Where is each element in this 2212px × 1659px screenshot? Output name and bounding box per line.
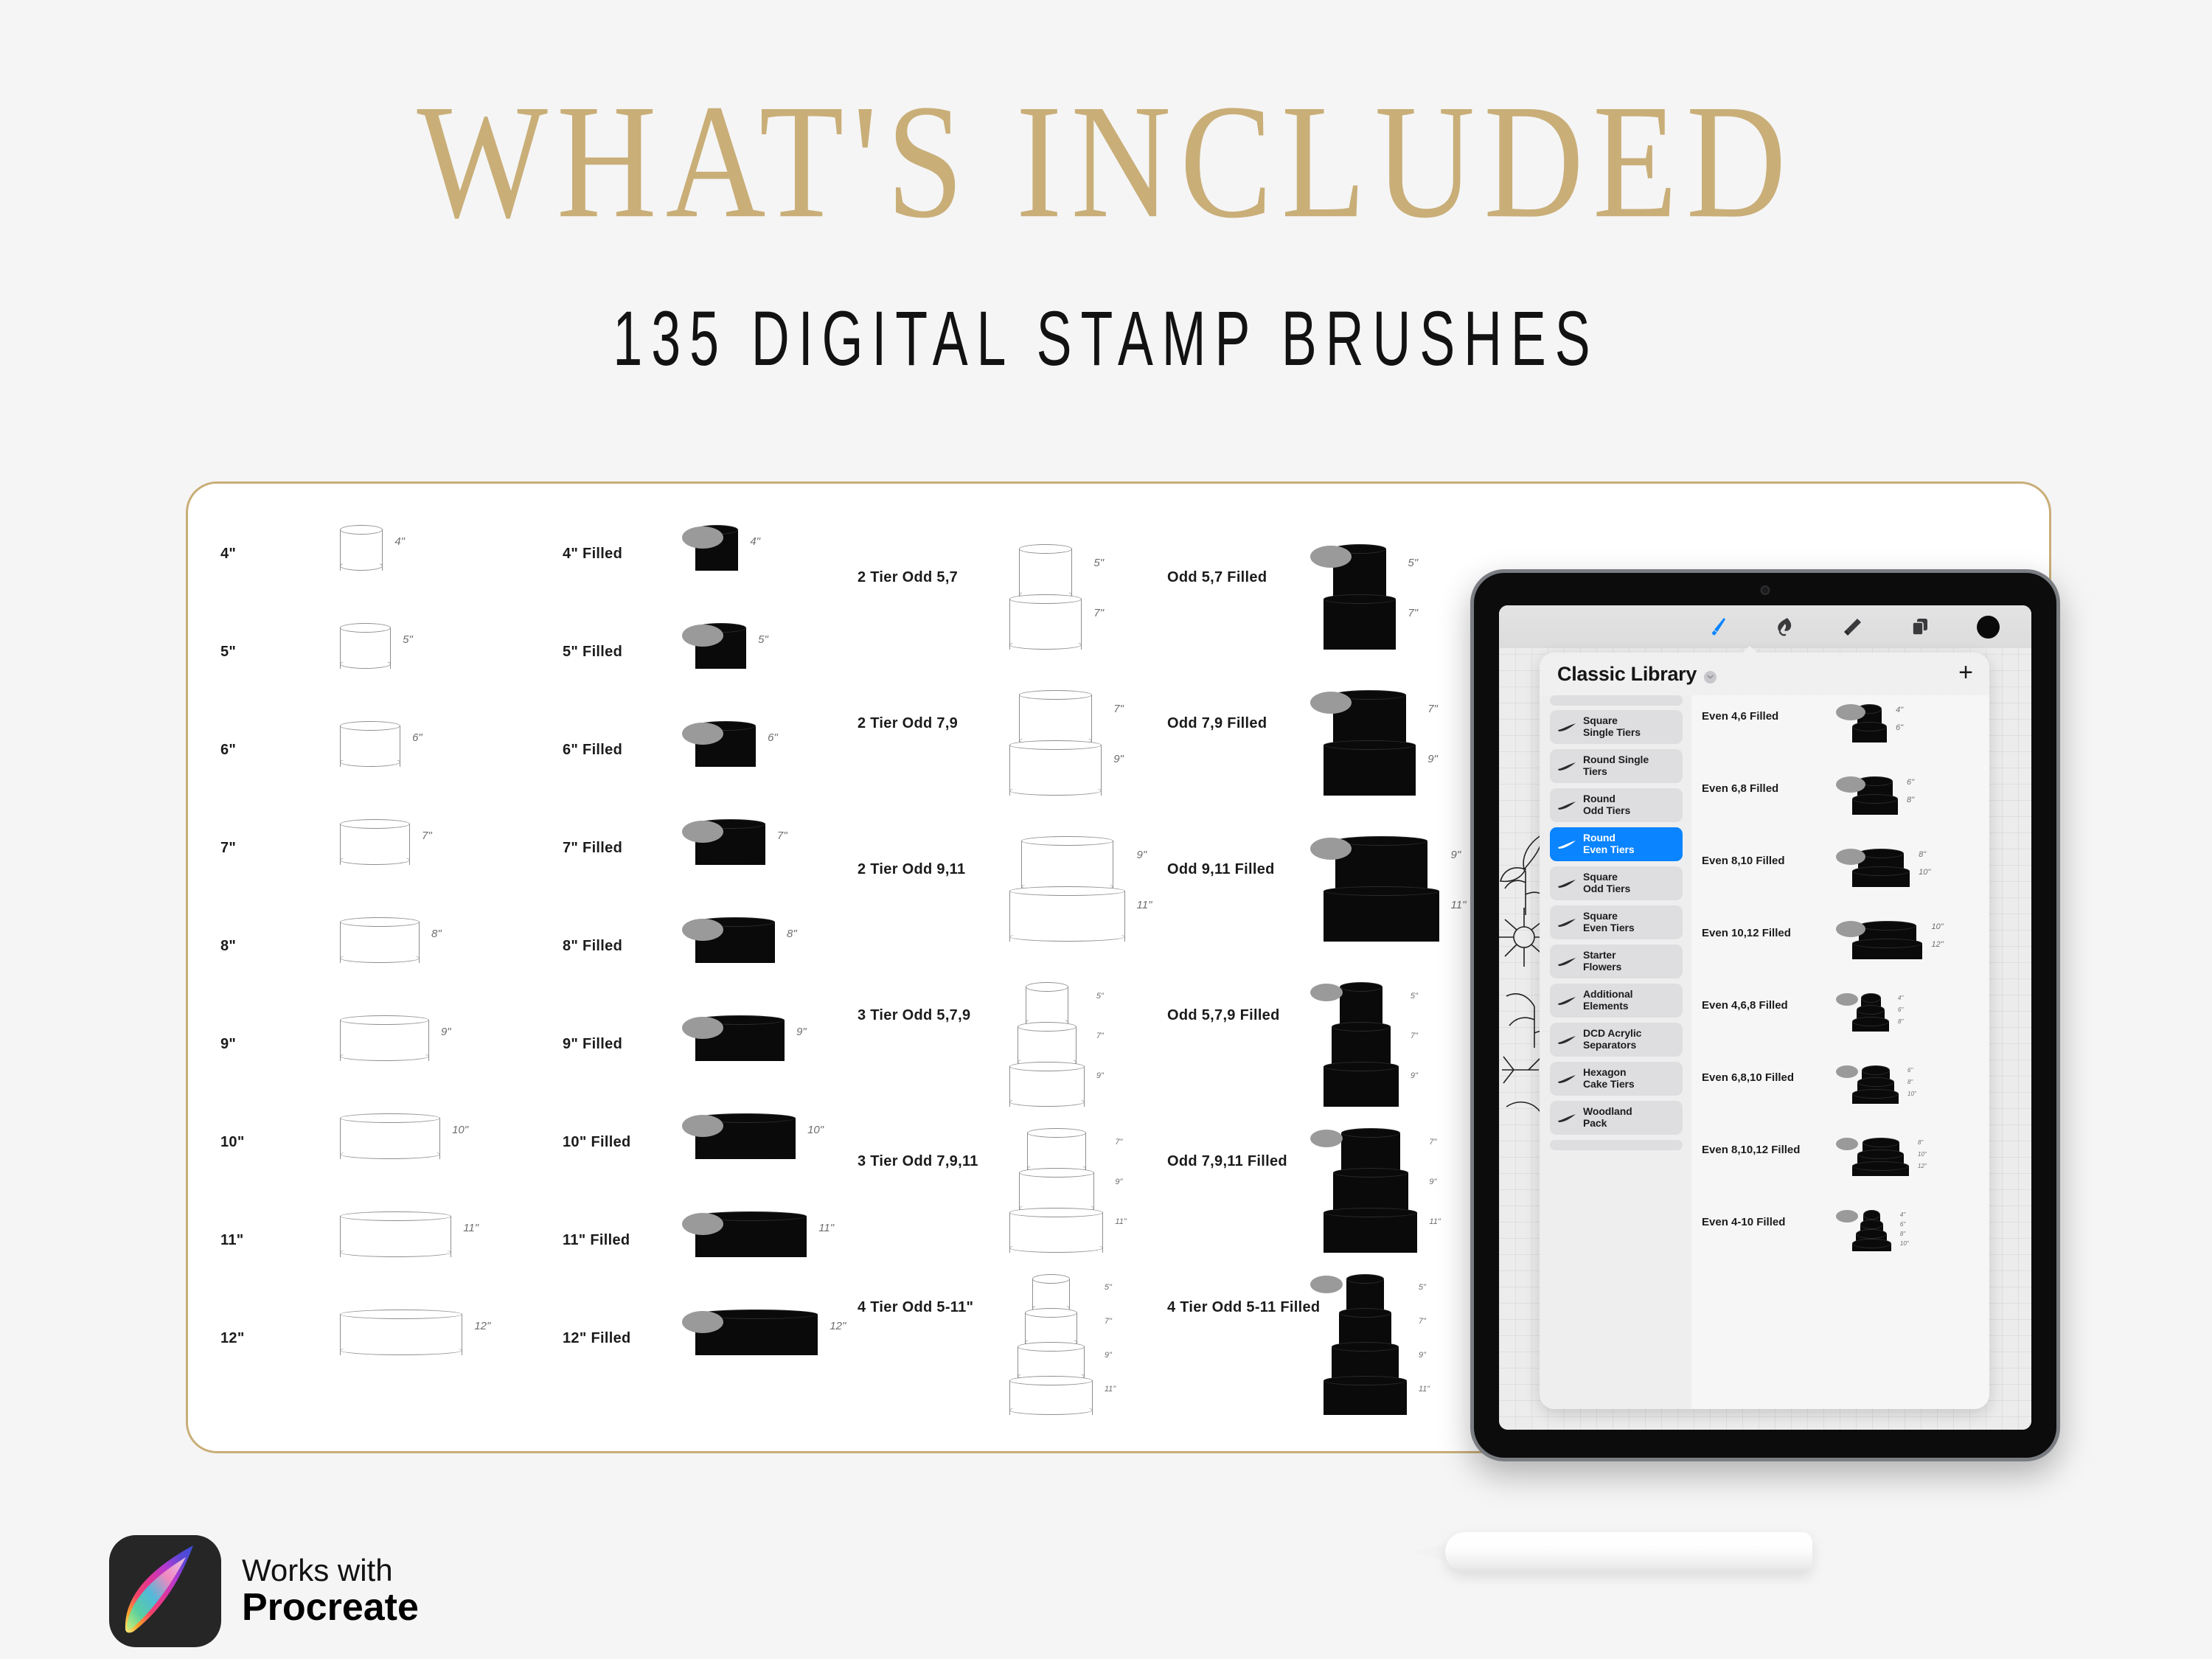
tier-size-tag: 5" <box>1408 557 1418 569</box>
brush-preview-row: 10"10" <box>209 1100 555 1198</box>
brush-item-list[interactable]: Even 4,6 Filled4"6"Even 6,8 Filled6"8"Ev… <box>1691 695 1989 1409</box>
brush-preview-row: 11"11" <box>209 1198 555 1296</box>
page-title: WHAT'S INCLUDED <box>0 80 2212 243</box>
cake-tier-outline <box>340 525 383 571</box>
brush-name-label: 10" <box>220 1134 245 1151</box>
brush-name-label: 10" Filled <box>563 1134 631 1151</box>
tier-size-tag: 10" <box>807 1124 824 1136</box>
badge-line-1: Works with <box>242 1554 419 1587</box>
tier-size-tag: 9" <box>1105 1351 1112 1360</box>
cake-tier-filled <box>1324 1062 1399 1107</box>
brush-label: Even 4,6,8 Filled <box>1702 999 1788 1012</box>
tier-size-tag: 11" <box>1451 899 1467 911</box>
brush-preview-row: 5"5" <box>209 610 555 708</box>
tier-size-tag: 4" <box>394 535 405 548</box>
cake-tier-filled <box>1852 794 1898 815</box>
smudge-mark <box>1310 1130 1343 1147</box>
cake-tier-outline <box>1026 982 1068 1027</box>
brush-label: Even 6,8,10 Filled <box>1702 1071 1794 1084</box>
tier-size-tag: 6" <box>412 731 422 744</box>
brush-set-label: RoundEven Tiers <box>1583 832 1635 855</box>
brush-name-label: Odd 7,9,11 Filled <box>1167 1153 1287 1170</box>
brush-preview-row: 7" Filled7" <box>555 806 858 904</box>
tier-size-tag: 11" <box>1419 1385 1430 1394</box>
brush-name-label: 4 Tier Odd 5-11 Filled <box>1167 1299 1320 1316</box>
chevron-down-icon[interactable] <box>1704 671 1717 684</box>
brush-label: Even 4,6 Filled <box>1702 710 1778 723</box>
cake-tier-outline <box>340 623 391 669</box>
tier-size-tag: 11" <box>1137 899 1152 911</box>
list-edge-bottom <box>1550 1140 1683 1150</box>
tier-size-tag: 4" <box>750 535 760 548</box>
brush-list-item[interactable]: Even 4-10 Filled4"6"8"10" <box>1691 1207 1989 1279</box>
front-camera-icon <box>1761 585 1770 595</box>
tier-size-tag: 12" <box>474 1320 490 1332</box>
tier-size-tag: 10" <box>1900 1240 1909 1247</box>
tier-size-tag: 6" <box>768 731 778 744</box>
tier-size-tag: 8" <box>787 928 797 940</box>
ipad-screen[interactable]: Classic Library + SquareSingle TiersRoun… <box>1499 605 2031 1430</box>
tier-size-tag: 9" <box>1113 753 1124 765</box>
tier-size-tag: 5" <box>1096 992 1104 1001</box>
cake-tier-outline <box>340 1211 451 1257</box>
brush-set-label: DCD AcrylicSeparators <box>1583 1028 1641 1051</box>
tier-size-tag: 7" <box>1411 1032 1418 1040</box>
cake-tier-filled <box>695 917 775 963</box>
tier-size-tag: 6" <box>1898 1006 1903 1013</box>
brush-preview-row: 3 Tier Odd 5,7,95"7"9" <box>858 972 1167 1118</box>
brush-preview-row: 6"6" <box>209 708 555 806</box>
cake-tier-filled <box>1335 836 1427 891</box>
tier-size-tag: 7" <box>1429 1138 1436 1147</box>
brush-set-item-hexagon-cake-tiers[interactable]: HexagonCake Tiers <box>1550 1062 1683 1096</box>
brush-name-label: 5" Filled <box>563 644 622 661</box>
cake-tier-filled <box>1852 1161 1909 1176</box>
tier-size-tag: 5" <box>758 633 768 646</box>
cake-tier-filled <box>1852 939 1922 959</box>
layers-icon[interactable] <box>1907 614 1933 639</box>
brush-list-item[interactable]: Even 6,8,10 Filled6"8"10" <box>1691 1062 1989 1135</box>
cake-tier-outline <box>1021 836 1113 891</box>
cake-tier-filled <box>1852 1017 1889 1032</box>
cake-tier-filled <box>1852 722 1887 742</box>
brush-stroke-icon <box>1557 995 1576 1006</box>
tier-size-tag: 8" <box>1907 796 1914 804</box>
cake-tier-filled <box>1333 1168 1408 1213</box>
cake-tier-filled <box>1333 690 1405 745</box>
page-subtitle: 135 DIGITAL STAMP BRUSHES <box>88 293 2124 384</box>
brush-list-item[interactable]: Even 4,6 Filled4"6" <box>1691 701 1989 773</box>
smudge-mark <box>1310 1276 1343 1293</box>
pencil-barrel <box>1445 1532 1812 1572</box>
brush-list-item[interactable]: Even 8,10 Filled8"10" <box>1691 846 1989 918</box>
brush-name-label: Odd 9,11 Filled <box>1167 861 1275 878</box>
brush-set-list[interactable]: SquareSingle TiersRound SingleTiersRound… <box>1540 695 1691 1409</box>
cake-tier-outline <box>340 1015 429 1061</box>
cake-tier-filled <box>1324 594 1396 650</box>
panel-header: Classic Library + <box>1540 653 1989 695</box>
brush-preview-row: Odd 5,7 Filled5"7" <box>1167 534 1477 680</box>
ipad-device: Classic Library + SquareSingle TiersRoun… <box>1470 569 2060 1461</box>
brush-name-label: 4" <box>220 546 236 563</box>
tier-size-tag: 10" <box>1918 1151 1927 1158</box>
apple-pencil <box>1414 1532 1812 1572</box>
badge-line-2: Procreate <box>242 1587 419 1628</box>
tier-size-tag: 9" <box>1451 849 1461 861</box>
eraser-icon[interactable] <box>1840 614 1865 639</box>
cake-tier-filled <box>1340 982 1382 1027</box>
cake-tier-filled <box>1852 866 1910 887</box>
brush-name-label: 6" <box>220 742 236 759</box>
cake-tier-outline <box>1009 1376 1093 1415</box>
brush-library-panel[interactable]: Classic Library + SquareSingle TiersRoun… <box>1540 653 1989 1409</box>
brush-list-item[interactable]: Even 6,8 Filled6"8" <box>1691 773 1989 846</box>
smudge-mark <box>1836 1138 1858 1150</box>
brush-set-item-round-odd-tiers[interactable]: RoundOdd Tiers <box>1550 788 1683 822</box>
tier-size-tag: 9" <box>1137 849 1147 861</box>
brush-preview-row: 8"8" <box>209 904 555 1002</box>
tier-size-tag: 4" <box>1896 706 1903 714</box>
brush-name-label: 6" Filled <box>563 742 622 759</box>
tier-size-tag: 8" <box>1898 1018 1903 1025</box>
smudge-mark <box>1836 993 1858 1006</box>
brush-name-label: 12" <box>220 1330 245 1347</box>
brush-preview-row: 2 Tier Odd 7,97"9" <box>858 680 1167 826</box>
tier-size-tag: 9" <box>1411 1071 1418 1080</box>
tier-size-tag: 4" <box>1900 1211 1905 1218</box>
brush-preview-row: 4"4" <box>209 512 555 610</box>
tier-size-tag: 7" <box>777 829 787 842</box>
brush-preview-row: Odd 7,9 Filled7"9" <box>1167 680 1477 826</box>
tier-size-tag: 7" <box>1105 1317 1112 1326</box>
tier-size-tag: 7" <box>1419 1317 1426 1326</box>
tier-size-tag: 10" <box>1919 868 1930 877</box>
tier-size-tag: 5" <box>1411 992 1418 1001</box>
brush-stroke-icon <box>1557 878 1576 888</box>
tier-size-tag: 12" <box>1931 940 1943 949</box>
tier-size-tag: 8" <box>1907 1079 1913 1085</box>
poster-canvas: WHAT'S INCLUDED 135 DIGITAL STAMP BRUSHE… <box>0 0 2212 1659</box>
cake-tier-filled <box>1324 740 1416 796</box>
panel-caret <box>1740 646 1759 655</box>
cake-tier-outline <box>340 1113 440 1159</box>
tier-size-tag: 9" <box>796 1026 807 1038</box>
tier-size-tag: 11" <box>818 1222 834 1234</box>
brush-preview-row: 4 Tier Odd 5-11 Filled5"7"9"11" <box>1167 1264 1477 1410</box>
cake-tier-outline <box>340 721 400 767</box>
brush-preview-row: 2 Tier Odd 5,75"7" <box>858 534 1167 680</box>
brush-set-item-round-single-tiers[interactable]: Round SingleTiers <box>1550 749 1683 783</box>
brush-name-label: 7" <box>220 840 236 857</box>
brush-set-label: RoundOdd Tiers <box>1583 793 1630 816</box>
cake-tier-filled <box>695 1310 818 1355</box>
tier-size-tag: 7" <box>422 829 432 842</box>
tier-size-tag: 5" <box>1105 1283 1112 1292</box>
cake-tier-outline <box>1009 740 1102 796</box>
brush-stroke-icon <box>1557 1113 1576 1123</box>
cake-tier-filled <box>1341 1128 1400 1173</box>
brush-stroke-icon <box>1557 839 1576 849</box>
brush-preview-row: 4" Filled4" <box>555 512 858 610</box>
cake-tier-filled <box>1324 886 1439 942</box>
panel-title: Classic Library <box>1557 663 1697 686</box>
tier-size-tag: 9" <box>1429 1178 1436 1186</box>
cake-tier-filled <box>695 1113 796 1159</box>
cake-tier-outline <box>1019 544 1072 599</box>
brush-set-item-square-single-tiers[interactable]: SquareSingle Tiers <box>1550 710 1683 744</box>
color-swatch[interactable] <box>1975 614 2000 639</box>
brush-preview-row: 4 Tier Odd 5-11"5"7"9"11" <box>858 1264 1167 1410</box>
brush-stroke-icon <box>1557 1034 1576 1045</box>
tier-size-tag: 8" <box>1900 1231 1905 1237</box>
tier-size-tag: 12" <box>1918 1163 1927 1169</box>
brush-set-item-square-even-tiers[interactable]: SquareEven Tiers <box>1550 905 1683 939</box>
paintbrush-icon[interactable] <box>1704 614 1729 639</box>
tier-size-tag: 9" <box>441 1026 451 1038</box>
brush-set-label: SquareOdd Tiers <box>1583 872 1630 894</box>
brush-name-label: Odd 5,7 Filled <box>1167 569 1267 586</box>
cake-tier-outline <box>1027 1128 1086 1173</box>
brush-preview-row: 9" Filled9" <box>555 1002 858 1100</box>
brush-name-label: 2 Tier Odd 5,7 <box>858 569 958 586</box>
brush-name-label: 12" Filled <box>563 1330 631 1347</box>
tier-size-tag: 6" <box>1907 1067 1913 1074</box>
brush-label: Even 8,10 Filled <box>1702 855 1785 867</box>
brush-name-label: 3 Tier Odd 5,7,9 <box>858 1007 970 1024</box>
tier-size-tag: 5" <box>1093 557 1104 569</box>
tier-size-tag: 5" <box>403 633 413 646</box>
cake-tier-filled <box>695 819 765 865</box>
brush-preview-row: 2 Tier Odd 9,119"11" <box>858 826 1167 972</box>
brush-preview-row: 5" Filled5" <box>555 610 858 708</box>
tier-size-tag: 8" <box>431 928 442 940</box>
brush-stroke-icon <box>1557 800 1576 810</box>
brush-name-label: Odd 7,9 Filled <box>1167 715 1267 732</box>
brush-set-item-woodland-pack[interactable]: WoodlandPack <box>1550 1101 1683 1135</box>
smudge-mark <box>1310 984 1343 1001</box>
tier-size-tag: 9" <box>1419 1351 1426 1360</box>
brush-list-item[interactable]: Even 8,10,12 Filled8"10"12" <box>1691 1135 1989 1207</box>
cake-tier-outline <box>1019 690 1091 745</box>
brush-name-label: 11" Filled <box>563 1232 630 1249</box>
cake-tier-filled <box>695 1211 807 1257</box>
cake-tier-outline <box>1009 886 1125 942</box>
brush-preview-row: Odd 7,9,11 Filled7"9"11" <box>1167 1118 1477 1264</box>
cake-tier-filled <box>1852 1239 1891 1251</box>
brush-set-item-starter-flowers[interactable]: StarterFlowers <box>1550 945 1683 978</box>
tier-size-tag: 12" <box>829 1320 846 1332</box>
tier-size-tag: 7" <box>1427 703 1438 715</box>
smudge-mark <box>1836 1065 1858 1078</box>
tier-size-tag: 8" <box>1919 850 1926 859</box>
tier-size-tag: 10" <box>452 1124 468 1136</box>
cake-tier-filled <box>1852 1089 1899 1104</box>
cake-tier-filled <box>695 525 738 571</box>
list-edge-top <box>1550 695 1683 706</box>
brush-name-label: 9" <box>220 1036 236 1053</box>
cake-tier-filled <box>695 1015 785 1061</box>
tier-size-tag: 9" <box>1115 1178 1122 1186</box>
brush-name-label: 11" <box>220 1232 244 1249</box>
brush-preview-row: 10" Filled10" <box>555 1100 858 1198</box>
brush-name-label: 5" <box>220 644 236 661</box>
tier-size-tag: 10" <box>1931 922 1943 931</box>
brush-list-item[interactable]: Even 4,6,8 Filled4"6"8" <box>1691 990 1989 1062</box>
tier-size-tag: 6" <box>1900 1221 1905 1228</box>
brush-set-item-square-odd-tiers[interactable]: SquareOdd Tiers <box>1550 866 1683 900</box>
cake-tier-outline <box>1019 1168 1094 1213</box>
brush-set-label: StarterFlowers <box>1583 950 1621 973</box>
tier-size-tag: 6" <box>1907 778 1914 787</box>
tier-size-tag: 5" <box>1419 1283 1426 1292</box>
brush-preview-row: 9"9" <box>209 1002 555 1100</box>
smudge-mark <box>1836 1210 1858 1222</box>
cake-tier-filled <box>695 623 746 669</box>
tier-size-tag: 7" <box>1113 703 1124 715</box>
cake-tier-outline <box>340 819 410 865</box>
brush-preview-row: 8" Filled8" <box>555 904 858 1002</box>
brush-set-label: HexagonCake Tiers <box>1583 1067 1635 1090</box>
tier-size-tag: 7" <box>1093 607 1104 619</box>
tier-size-tag: 11" <box>1429 1217 1440 1226</box>
brush-name-label: 4 Tier Odd 5-11" <box>858 1299 973 1316</box>
brush-label: Even 4-10 Filled <box>1702 1216 1785 1228</box>
cake-tier-outline <box>340 1310 462 1355</box>
tier-size-tag: 6" <box>1896 723 1903 732</box>
brush-preview-row: Odd 9,11 Filled9"11" <box>1167 826 1477 972</box>
brush-name-label: Odd 5,7,9 Filled <box>1167 1007 1280 1024</box>
brush-set-label: AdditionalElements <box>1583 989 1632 1012</box>
brush-preview-row: Odd 5,7,9 Filled5"7"9" <box>1167 972 1477 1118</box>
procreate-logo-icon <box>109 1535 221 1647</box>
cake-tier-filled <box>695 721 756 767</box>
brush-preview-row: 12" Filled12" <box>555 1296 858 1394</box>
cake-tier-outline <box>340 917 420 963</box>
cake-tier-filled <box>1333 544 1386 599</box>
brush-name-label: 4" Filled <box>563 546 622 563</box>
brush-preview-row: 7"7" <box>209 806 555 904</box>
brush-preview-row: 11" Filled11" <box>555 1198 858 1296</box>
brush-set-label: WoodlandPack <box>1583 1106 1632 1129</box>
brush-stroke-icon <box>1557 917 1576 928</box>
tier-size-tag: 7" <box>1408 607 1418 619</box>
brush-label: Even 8,10,12 Filled <box>1702 1144 1800 1156</box>
tier-size-tag: 9" <box>1427 753 1438 765</box>
tier-size-tag: 8" <box>1918 1139 1923 1146</box>
tier-size-tag: 11" <box>1105 1385 1116 1394</box>
brush-stroke-icon <box>1557 761 1576 771</box>
brush-stroke-icon <box>1557 1074 1576 1084</box>
cake-tier-outline <box>1009 594 1082 650</box>
brush-stroke-icon <box>1557 956 1576 967</box>
tier-size-tag: 10" <box>1907 1091 1916 1097</box>
tier-size-tag: 4" <box>1898 995 1903 1001</box>
brush-name-label: 3 Tier Odd 7,9,11 <box>858 1153 978 1170</box>
brush-set-item-dcd-acrylic-separators[interactable]: DCD AcrylicSeparators <box>1550 1023 1683 1057</box>
brush-preview-row: 3 Tier Odd 7,9,117"9"11" <box>858 1118 1167 1264</box>
brush-name-label: 8" Filled <box>563 938 622 955</box>
pencil-tip <box>1414 1543 1450 1562</box>
brush-name-label: 2 Tier Odd 9,11 <box>858 861 965 878</box>
brush-label: Even 10,12 Filled <box>1702 927 1791 939</box>
procreate-toolbar[interactable] <box>1499 605 2031 648</box>
brush-name-label: 2 Tier Odd 7,9 <box>858 715 958 732</box>
cake-tier-filled <box>1324 1208 1417 1253</box>
brush-list-item[interactable]: Even 10,12 Filled10"12" <box>1691 918 1989 990</box>
cake-tier-filled <box>1332 1022 1391 1067</box>
brush-set-label: SquareEven Tiers <box>1583 911 1635 933</box>
brush-name-label: 9" Filled <box>563 1036 622 1053</box>
brush-preview-row: 12"12" <box>209 1296 555 1394</box>
works-with-procreate-badge: Works with Procreate <box>109 1535 419 1647</box>
cake-tier-outline <box>1018 1022 1077 1067</box>
tier-size-tag: 11" <box>1115 1217 1126 1226</box>
brush-set-label: SquareSingle Tiers <box>1583 715 1641 738</box>
tier-size-tag: 11" <box>463 1222 479 1234</box>
cake-tier-outline <box>1009 1062 1085 1107</box>
brush-label: Even 6,8 Filled <box>1702 782 1778 795</box>
cake-tier-filled <box>1324 1376 1407 1415</box>
tier-size-tag: 7" <box>1115 1138 1122 1147</box>
brush-name-label: 7" Filled <box>563 840 622 857</box>
brush-name-label: 8" <box>220 938 236 955</box>
brush-set-label: Round SingleTiers <box>1583 754 1649 777</box>
brush-set-item-additional-elements[interactable]: AdditionalElements <box>1550 984 1683 1018</box>
brush-preview-row: 6" Filled6" <box>555 708 858 806</box>
tier-size-tag: 7" <box>1096 1032 1104 1040</box>
smudge-icon[interactable] <box>1772 614 1797 639</box>
brush-set-item-round-even-tiers[interactable]: RoundEven Tiers <box>1550 827 1683 861</box>
tier-size-tag: 9" <box>1096 1071 1104 1080</box>
cake-tier-outline <box>1009 1208 1103 1253</box>
brush-stroke-icon <box>1557 722 1576 732</box>
